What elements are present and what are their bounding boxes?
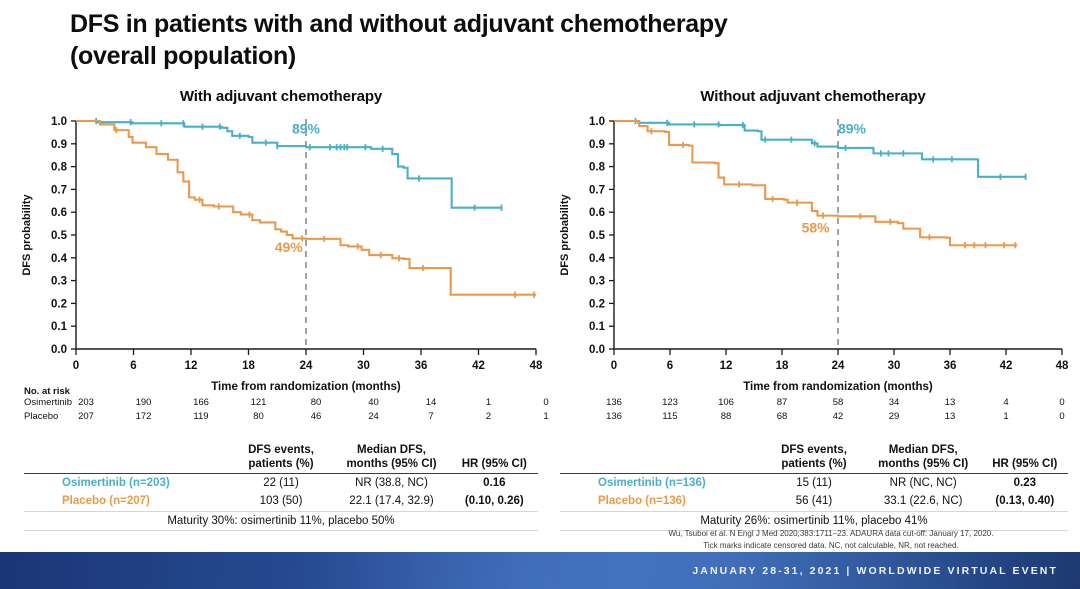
- svg-text:0.3: 0.3: [51, 276, 67, 288]
- citation-footnote: Wu, Tsuboi et al. N Engl J Med 2020;383:…: [596, 528, 1066, 551]
- summary-table-without-chemo: DFS events, patients (%) Median DFS, mon…: [560, 444, 1068, 531]
- at-risk-value: 115: [647, 411, 693, 422]
- at-risk-value: 1: [983, 411, 1029, 422]
- summary-col-median: Median DFS, months (95% CI): [865, 444, 982, 474]
- row-events-osimertinib: 15 (11): [763, 474, 865, 493]
- svg-text:48: 48: [530, 360, 543, 372]
- row-events-placebo: 56 (41): [763, 492, 865, 511]
- row-hr-placebo: (0.10, 0.26): [451, 492, 538, 511]
- summary-table-head: DFS events, patients (%) Median DFS, mon…: [560, 444, 1068, 474]
- summary-col-median-l2: months (95% CI): [332, 458, 450, 472]
- km-plot-with-chemo: 0.00.10.20.30.40.50.60.70.80.91.00612182…: [14, 111, 548, 411]
- svg-text:24: 24: [832, 360, 845, 372]
- event-footer-text: JANUARY 28-31, 2021 | WORLDWIDE VIRTUAL …: [692, 565, 1058, 577]
- summary-col-blank: [24, 444, 230, 474]
- page-title-line1: DFS in patients with and without adjuvan…: [70, 8, 1030, 40]
- at-risk-value: 0: [1039, 397, 1080, 408]
- summary-col-events: DFS events, patients (%): [230, 444, 333, 474]
- at-risk-row: Osimertinib20319016612180401410: [24, 397, 544, 411]
- at-risk-value: 136: [591, 397, 637, 408]
- row-hr-osimertinib: 0.16: [451, 474, 538, 493]
- svg-text:12: 12: [185, 360, 198, 372]
- summary-col-events-l2: patients (%): [230, 458, 333, 472]
- at-risk-value: 88: [703, 411, 749, 422]
- at-risk-value: 68: [759, 411, 805, 422]
- summary-col-events-l2: patients (%): [763, 458, 865, 472]
- summary-col-hr: HR (95% CI): [451, 444, 538, 474]
- at-risk-value: 80: [293, 397, 339, 408]
- svg-text:24: 24: [300, 360, 313, 372]
- svg-text:18: 18: [242, 360, 255, 372]
- at-risk-value: 207: [63, 411, 109, 422]
- at-risk-value: 13: [927, 411, 973, 422]
- at-risk-value: 40: [351, 397, 397, 408]
- svg-text:36: 36: [944, 360, 957, 372]
- summary-col-median: Median DFS, months (95% CI): [332, 444, 450, 474]
- page-title-line2: (overall population): [70, 40, 1030, 72]
- row-median-osimertinib: NR (NC, NC): [865, 474, 982, 493]
- at-risk-value: 14: [408, 397, 454, 408]
- svg-text:0.9: 0.9: [51, 139, 67, 151]
- svg-text:0.0: 0.0: [51, 344, 67, 356]
- svg-text:0.4: 0.4: [589, 253, 606, 265]
- summary-col-events: DFS events, patients (%): [763, 444, 865, 474]
- at-risk-value: 87: [759, 397, 805, 408]
- svg-text:42: 42: [1000, 360, 1013, 372]
- svg-text:6: 6: [667, 360, 673, 372]
- citation-line2: Tick marks indicate censored data. NC, n…: [596, 540, 1066, 552]
- panel-title-with-chemo: With adjuvant chemotherapy: [14, 88, 548, 105]
- at-risk-value: 29: [871, 411, 917, 422]
- at-risk-value: 1: [523, 411, 569, 422]
- summary-col-events-l1: DFS events,: [763, 444, 865, 458]
- svg-text:18: 18: [776, 360, 789, 372]
- at-risk-value: 166: [178, 397, 224, 408]
- svg-text:12: 12: [720, 360, 733, 372]
- svg-text:DFS probability: DFS probability: [559, 193, 571, 275]
- summary-col-blank: [560, 444, 763, 474]
- at-risk-value: 121: [236, 397, 282, 408]
- svg-text:0.0: 0.0: [589, 344, 605, 356]
- summary-table-with-chemo: DFS events, patients (%) Median DFS, mon…: [24, 444, 538, 531]
- at-risk-value: 4: [983, 397, 1029, 408]
- svg-text:0.2: 0.2: [589, 298, 605, 310]
- page-title: DFS in patients with and without adjuvan…: [70, 8, 1030, 72]
- svg-text:30: 30: [357, 360, 370, 372]
- row-median-placebo: 33.1 (22.6, NC): [865, 492, 982, 511]
- row-label-placebo: Placebo (n=136): [560, 492, 763, 511]
- table-row-maturity: Maturity 30%: osimertinib 11%, placebo 5…: [24, 511, 538, 530]
- svg-text:1.0: 1.0: [51, 116, 67, 128]
- svg-text:0.3: 0.3: [589, 276, 605, 288]
- at-risk-value: 1: [466, 397, 512, 408]
- svg-text:0.8: 0.8: [589, 162, 606, 174]
- at-risk-value: 190: [121, 397, 167, 408]
- svg-text:0.9: 0.9: [589, 139, 605, 151]
- at-risk-value: 2: [466, 411, 512, 422]
- svg-text:0.1: 0.1: [51, 321, 68, 333]
- summary-table-body: Osimertinib (n=136) 15 (11) NR (NC, NC) …: [560, 474, 1068, 531]
- svg-text:48: 48: [1056, 360, 1069, 372]
- row-label-osimertinib: Osimertinib (n=136): [560, 474, 763, 493]
- svg-text:0.1: 0.1: [589, 321, 606, 333]
- at-risk-row: Placebo207172119804624721: [24, 411, 544, 425]
- at-risk-value: 123: [647, 397, 693, 408]
- row-hr-placebo: (0.13, 0.40): [982, 492, 1068, 511]
- at-risk-value: 13: [927, 397, 973, 408]
- svg-text:0.4: 0.4: [51, 253, 68, 265]
- at-risk-value: 119: [178, 411, 224, 422]
- at-risk-value: 80: [236, 411, 282, 422]
- summary-col-median-l2: months (95% CI): [865, 458, 982, 472]
- svg-text:58%: 58%: [802, 219, 831, 235]
- at-risk-value: 58: [815, 397, 861, 408]
- at-risk-row: 136115886842291310: [564, 411, 1074, 425]
- svg-text:89%: 89%: [838, 121, 867, 137]
- at-risk-value: 34: [871, 397, 917, 408]
- at-risk-table-without-chemo: 1361231068758341340136115886842291310: [564, 386, 1074, 425]
- svg-text:0: 0: [611, 360, 617, 372]
- km-chart-svg-with-chemo: 0.00.10.20.30.40.50.60.70.80.91.00612182…: [14, 111, 548, 411]
- svg-text:0.2: 0.2: [51, 298, 67, 310]
- at-risk-row: 1361231068758341340: [564, 397, 1074, 411]
- maturity-text: Maturity 30%: osimertinib 11%, placebo 5…: [24, 511, 538, 530]
- svg-text:36: 36: [415, 360, 428, 372]
- at-risk-value: 24: [351, 411, 397, 422]
- summary-col-median-l1: Median DFS,: [332, 444, 450, 458]
- summary-col-median-l1: Median DFS,: [865, 444, 982, 458]
- km-chart-svg-without-chemo: 0.00.10.20.30.40.50.60.70.80.91.00612182…: [552, 111, 1074, 411]
- summary-table-body: Osimertinib (n=203) 22 (11) NR (38.8, NC…: [24, 474, 538, 531]
- svg-text:0.6: 0.6: [51, 207, 67, 219]
- row-median-osimertinib: NR (38.8, NC): [332, 474, 450, 493]
- panel-without-chemo: Without adjuvant chemotherapy 0.00.10.20…: [552, 88, 1074, 411]
- summary-col-hr: HR (95% CI): [982, 444, 1068, 474]
- at-risk-value: 136: [591, 411, 637, 422]
- svg-text:89%: 89%: [292, 121, 321, 137]
- at-risk-value: 106: [703, 397, 749, 408]
- at-risk-value: 203: [63, 397, 109, 408]
- table-row: Osimertinib (n=136) 15 (11) NR (NC, NC) …: [560, 474, 1068, 493]
- svg-text:0.7: 0.7: [51, 184, 67, 196]
- svg-text:0.7: 0.7: [589, 184, 605, 196]
- svg-text:1.0: 1.0: [589, 116, 605, 128]
- svg-text:0: 0: [73, 360, 79, 372]
- at-risk-value: 0: [1039, 411, 1080, 422]
- svg-text:0.5: 0.5: [589, 230, 606, 242]
- citation-line1: Wu, Tsuboi et al. N Engl J Med 2020;383:…: [596, 528, 1066, 540]
- svg-text:0.8: 0.8: [51, 162, 68, 174]
- slide-root: DFS in patients with and without adjuvan…: [0, 0, 1080, 589]
- panel-title-without-chemo: Without adjuvant chemotherapy: [552, 88, 1074, 105]
- row-events-placebo: 103 (50): [230, 492, 333, 511]
- svg-text:0.5: 0.5: [51, 230, 68, 242]
- at-risk-value: 0: [523, 397, 569, 408]
- at-risk-value: 42: [815, 411, 861, 422]
- svg-text:0.6: 0.6: [589, 207, 605, 219]
- event-footer-banner: JANUARY 28-31, 2021 | WORLDWIDE VIRTUAL …: [0, 552, 1080, 589]
- at-risk-value: 172: [121, 411, 167, 422]
- summary-table-head: DFS events, patients (%) Median DFS, mon…: [24, 444, 538, 474]
- svg-text:30: 30: [888, 360, 901, 372]
- table-row: Osimertinib (n=203) 22 (11) NR (38.8, NC…: [24, 474, 538, 493]
- row-label-placebo: Placebo (n=207): [24, 492, 230, 511]
- svg-text:42: 42: [472, 360, 485, 372]
- svg-text:49%: 49%: [275, 239, 304, 255]
- at-risk-table-with-chemo: No. at risk Osimertinib20319016612180401…: [24, 386, 544, 425]
- panel-with-chemo: With adjuvant chemotherapy 0.00.10.20.30…: [14, 88, 548, 411]
- row-events-osimertinib: 22 (11): [230, 474, 333, 493]
- row-median-placebo: 22.1 (17.4, 32.9): [332, 492, 450, 511]
- row-hr-osimertinib: 0.23: [982, 474, 1068, 493]
- km-plot-without-chemo: 0.00.10.20.30.40.50.60.70.80.91.00612182…: [552, 111, 1074, 411]
- table-row: Placebo (n=136) 56 (41) 33.1 (22.6, NC) …: [560, 492, 1068, 511]
- at-risk-title: No. at risk: [24, 386, 544, 397]
- summary-col-events-l1: DFS events,: [230, 444, 333, 458]
- at-risk-value: 7: [408, 411, 454, 422]
- table-row: Placebo (n=207) 103 (50) 22.1 (17.4, 32.…: [24, 492, 538, 511]
- row-label-osimertinib: Osimertinib (n=203): [24, 474, 230, 493]
- svg-text:DFS probability: DFS probability: [21, 193, 33, 275]
- at-risk-value: 46: [293, 411, 339, 422]
- svg-text:6: 6: [130, 360, 136, 372]
